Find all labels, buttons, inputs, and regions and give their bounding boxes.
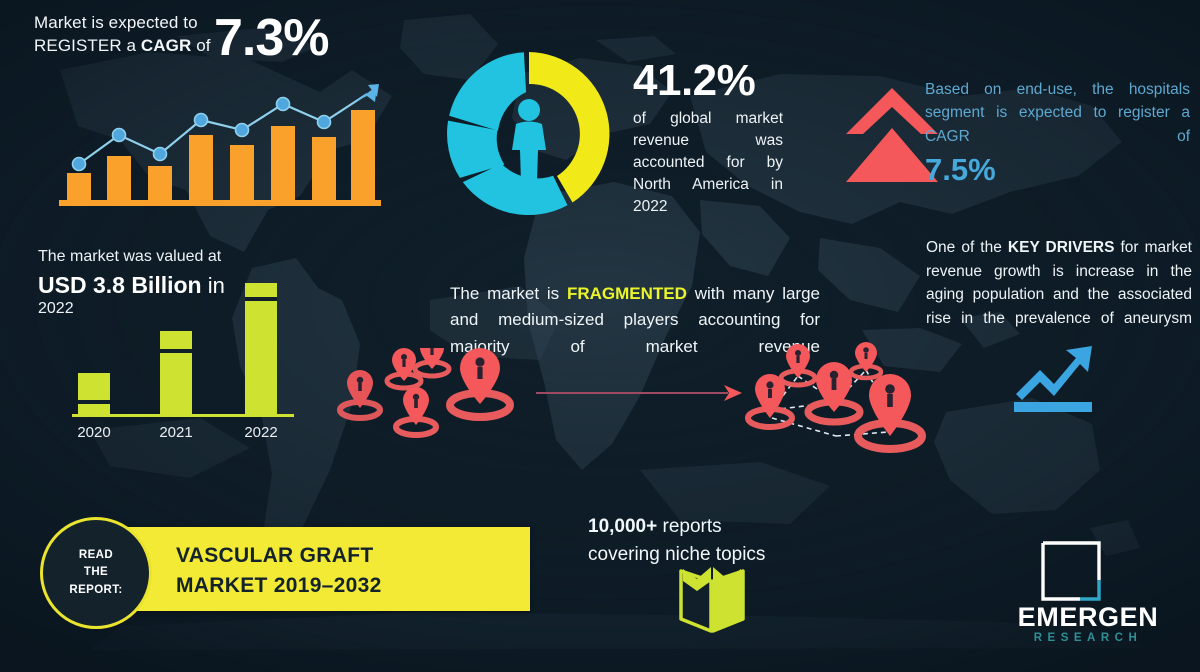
reports-count: 10,000+ <box>588 516 657 537</box>
value-chart-tick-2020: 2020 <box>77 424 110 441</box>
logo-square-mark <box>1040 540 1102 602</box>
read-label-line-2: THE <box>84 566 108 578</box>
report-title-line-2: MARKET 2019–2032 <box>176 574 382 597</box>
emergen-research-logo: EMERGEN RESEARCH <box>1000 540 1176 650</box>
value-chart-tick-2022: 2022 <box>244 424 277 441</box>
market-growth-chart <box>55 72 385 207</box>
reports-count-suffix: reports <box>657 516 721 537</box>
hospitals-cagr-value: 7.5% <box>925 152 996 188</box>
read-label-line-1: READ <box>79 549 113 561</box>
header-line-1: Market is expected to <box>34 13 198 32</box>
read-the-report-badge[interactable]: READ THE REPORT: <box>40 517 152 629</box>
person-icon <box>512 99 546 182</box>
header-line-2-suffix: of <box>191 36 210 55</box>
regional-share-donut-chart <box>437 42 621 226</box>
logo-name: EMERGEN <box>1000 602 1176 633</box>
value-chart-tick-labels: 2020 2021 2022 <box>77 424 277 441</box>
transition-arrow-icon <box>536 380 744 406</box>
market-valuation-label: The market was valued at <box>38 248 221 266</box>
map-pins-cluster-right <box>736 340 936 470</box>
map-pin <box>415 348 449 376</box>
donut-segment-d <box>449 52 526 131</box>
north-america-share-value: 41.2% <box>633 56 755 106</box>
header-cagr-statement: Market is expected to REGISTER a CAGR of <box>34 12 224 58</box>
growth-chart-baseline <box>59 200 381 206</box>
report-title: VASCULAR GRAFT MARKET 2019–2032 <box>176 541 516 602</box>
map-pin <box>851 342 881 378</box>
fragmented-highlight: FRAGMENTED <box>567 284 687 303</box>
infographic-canvas: Market is expected to REGISTER a CAGR of… <box>0 0 1200 672</box>
report-title-line-1: VASCULAR GRAFT <box>176 544 373 567</box>
key-drivers-prefix: One of the <box>926 239 1008 256</box>
reports-note-line-2: covering niche topics <box>588 544 765 565</box>
north-america-share-description: of global market revenue was accounted f… <box>633 108 783 218</box>
reports-count-note: 10,000+ reports covering niche topics <box>588 513 818 568</box>
header-line-2-prefix: REGISTER a <box>34 36 141 55</box>
key-drivers-statement: One of the KEY DRIVERS for market revenu… <box>926 236 1192 330</box>
read-the-report-label: READ THE REPORT: <box>69 547 122 599</box>
open-book-icon <box>675 565 749 635</box>
map-pin <box>858 374 922 449</box>
market-value-bar-chart: 2020 2021 2022 <box>60 275 310 445</box>
map-pin <box>396 387 436 435</box>
value-chart-baseline <box>72 414 294 417</box>
fragmented-prefix: The market is <box>450 284 567 303</box>
map-pin <box>340 370 380 418</box>
logo-subtitle: RESEARCH <box>1000 632 1176 644</box>
trend-arrow-icon <box>1010 338 1096 418</box>
value-chart-tick-2021: 2021 <box>159 424 192 441</box>
map-pin <box>450 348 510 417</box>
map-pins-cluster-left <box>332 348 532 453</box>
read-label-line-3: REPORT: <box>69 584 122 596</box>
header-line-2-bold: CAGR <box>141 36 191 55</box>
read-the-report-banner[interactable]: VASCULAR GRAFT MARKET 2019–2032 <box>126 527 530 611</box>
map-pin <box>781 344 815 385</box>
hospitals-segment-statement: Based on end-use, the hospitals segment … <box>925 78 1190 148</box>
header-cagr-value: 7.3% <box>214 8 329 68</box>
key-drivers-bold: KEY DRIVERS <box>1008 239 1115 256</box>
